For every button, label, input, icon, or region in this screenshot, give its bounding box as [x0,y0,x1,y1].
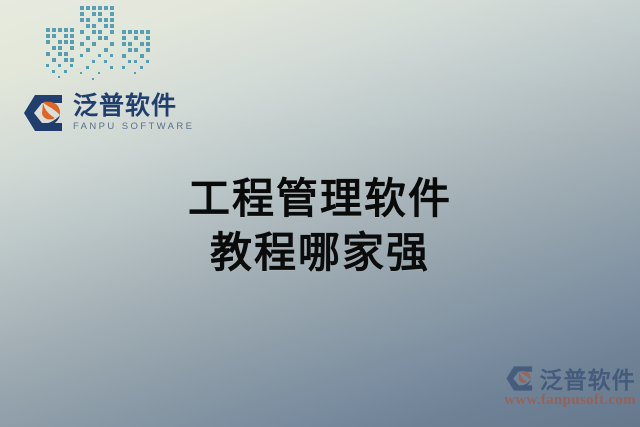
fanpu-logo-mark-icon [505,365,535,392]
pixel-city-skyline-icon [42,2,152,84]
page-title: 工程管理软件 教程哪家强 [0,172,640,280]
page-title-line-1: 工程管理软件 [0,172,640,226]
watermark-logo-row: 泛普软件 [505,361,636,395]
watermark-url: www.fanpusoft.com [504,392,636,409]
promo-banner: 泛普软件 FANPU SOFTWARE 工程管理软件 教程哪家强 泛普软件 ww… [0,0,640,427]
brand-wordmark: 泛普软件 FANPU SOFTWARE [73,93,194,133]
page-title-line-2: 教程哪家强 [0,226,640,280]
watermark: 泛普软件 www.fanpusoft.com [504,361,636,409]
brand-name-en: FANPU SOFTWARE [73,122,194,132]
brand-name-cn: 泛普软件 [73,93,194,119]
watermark-name-cn: 泛普软件 [540,361,636,395]
fanpu-logo-mark-icon [22,93,66,133]
brand-logo: 泛普软件 FANPU SOFTWARE [22,93,194,133]
